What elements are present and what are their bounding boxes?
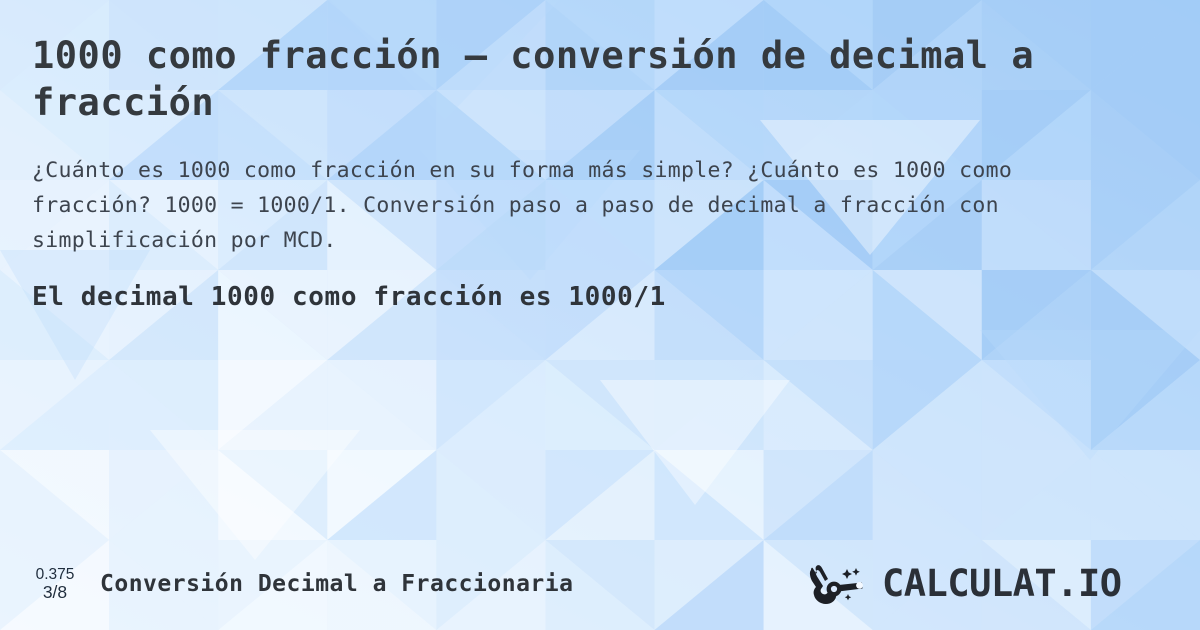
svg-text:CALCULAT.IO: CALCULAT.IO <box>882 564 1122 604</box>
page-description: ¿Cuánto es 1000 como fracción en su form… <box>32 153 1097 258</box>
brand-logo[interactable]: CALCULAT.IO <box>804 563 1180 605</box>
fraction-logo-fraction: 3/8 <box>24 583 86 603</box>
page-title: 1000 como fracción – conversión de decim… <box>32 32 1062 126</box>
decimal-to-fraction-logo: 0.375 3/8 <box>24 566 86 603</box>
brand-wordmark: CALCULAT.IO <box>882 564 1172 604</box>
footer-left-group: 0.375 3/8 Conversión Decimal a Fracciona… <box>24 566 573 603</box>
hand-magic-wand-icon <box>804 563 876 605</box>
footer-title: Conversión Decimal a Fraccionaria <box>100 571 573 597</box>
footer-bar: 0.375 3/8 Conversión Decimal a Fracciona… <box>0 556 1200 612</box>
fraction-logo-decimal: 0.375 <box>24 566 86 583</box>
answer-statement: El decimal 1000 como fracción es 1000/1 <box>32 280 1168 314</box>
content-area: 1000 como fracción – conversión de decim… <box>0 0 1200 630</box>
